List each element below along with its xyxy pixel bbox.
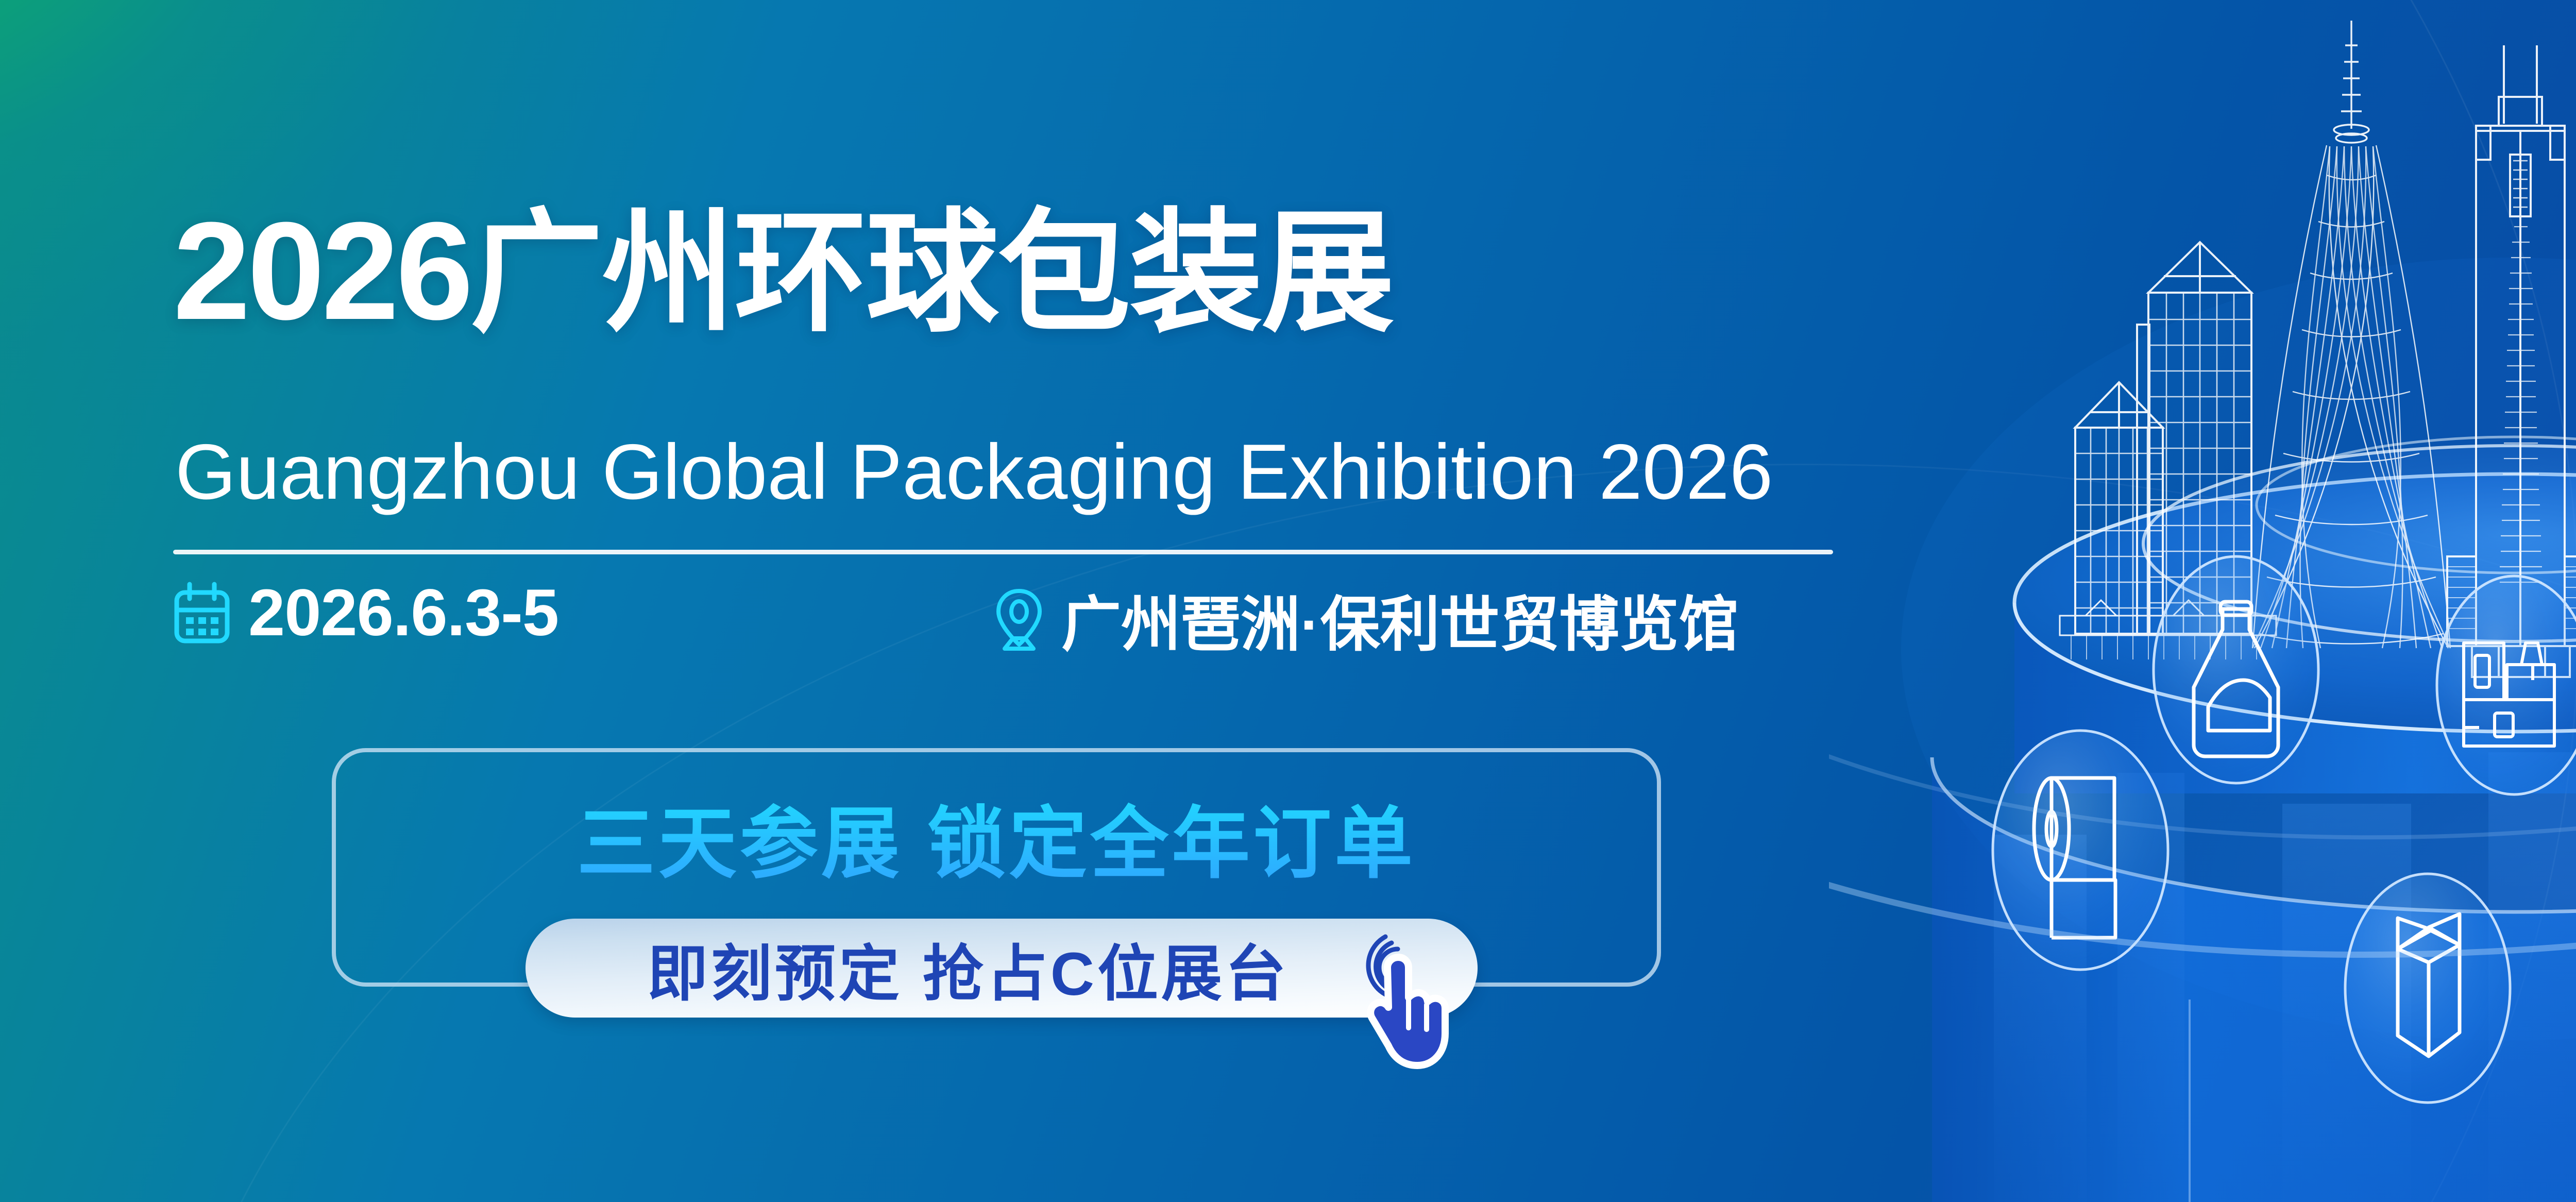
title-name-cn: 广州环球包装展 xyxy=(470,198,1394,347)
page-subtitle-en: Guangzhou Global Packaging Exhibition 20… xyxy=(175,433,1773,511)
exhibition-banner: 2026广州环球包装展 Guangzhou Global Packaging E… xyxy=(0,0,2576,1202)
location-pin-icon xyxy=(991,587,1047,652)
title-year: 2026 xyxy=(173,194,470,349)
bottle-icon-bubble xyxy=(2154,556,2318,783)
calendar-icon xyxy=(173,581,231,645)
event-date-item: 2026.6.3-5 xyxy=(173,575,558,651)
book-booth-cta-button[interactable]: 即刻预定 抢占C位展台 xyxy=(526,919,1478,1018)
event-venue-item: 广州琶洲·保利世贸博览馆 xyxy=(991,576,1739,663)
event-venue-text: 广州琶洲·保利世贸博览馆 xyxy=(1061,576,1739,663)
printing-press-icon-bubble xyxy=(2437,576,2576,794)
slogan-text: 三天参展 锁定全年订单 xyxy=(336,752,1657,893)
paper-roll-icon-bubble xyxy=(1993,731,2168,970)
event-date-text: 2026.6.3-5 xyxy=(248,575,558,651)
hand-tap-cursor-icon[interactable] xyxy=(1338,922,1456,1072)
cta-label: 即刻预定 抢占C位展台 xyxy=(526,919,1478,1018)
banner-text-column: 2026广州环球包装展 Guangzhou Global Packaging E… xyxy=(0,0,1906,1202)
open-carton-box-icon-bubble xyxy=(2345,874,2510,1103)
illustration-panel xyxy=(1829,0,2576,1202)
page-title: 2026广州环球包装展 xyxy=(173,202,1394,341)
divider xyxy=(173,550,1833,554)
